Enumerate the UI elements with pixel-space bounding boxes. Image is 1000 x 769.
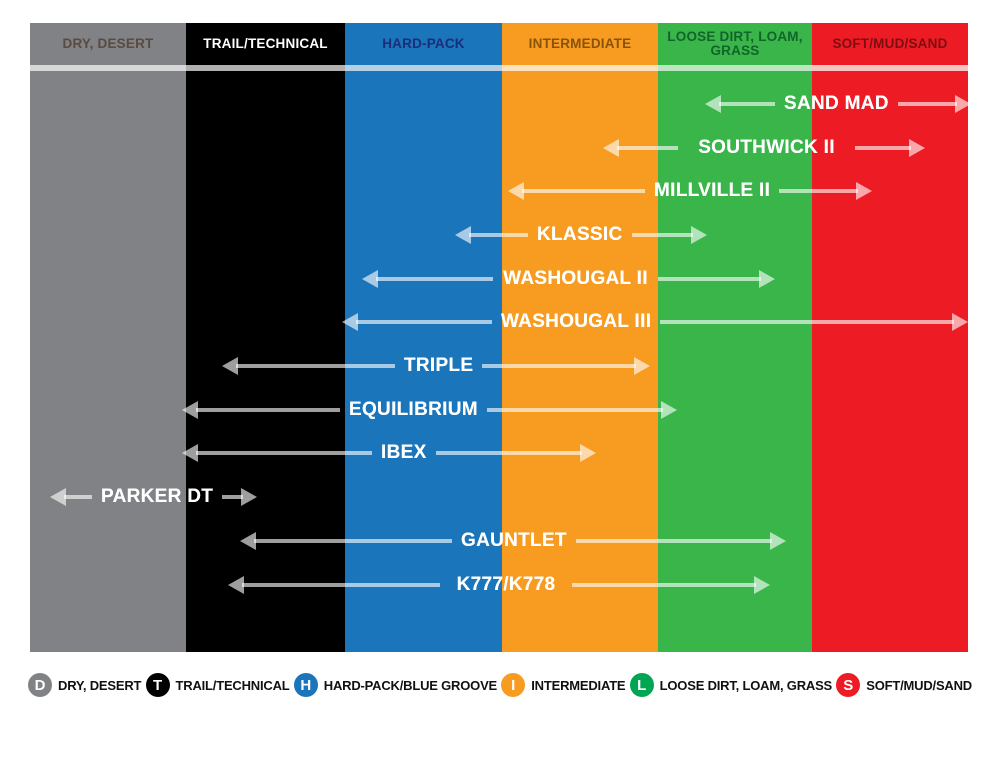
arrow-right — [658, 264, 775, 294]
arrow-left — [222, 351, 395, 381]
arrow-left-shaft — [196, 408, 340, 412]
tire-name-label: MILLVILLE II — [645, 180, 779, 202]
header-cell-soft-mud-sand: SOFT/MUD/SAND — [812, 23, 968, 65]
arrow-left-head-icon — [240, 532, 256, 550]
arrow-left — [228, 570, 440, 600]
arrow-right-head-icon — [241, 488, 257, 506]
legend-item-dry-desert[interactable]: DDRY, DESERT — [28, 673, 141, 697]
tire-name-label: K777/K778 — [440, 574, 572, 596]
arrow-right-shaft — [572, 583, 756, 587]
tire-row[interactable]: K777/K778 — [228, 570, 770, 600]
tire-row[interactable]: IBEX — [182, 438, 590, 468]
tire-row[interactable]: MILLVILLE II — [508, 176, 868, 206]
arrow-right — [632, 220, 707, 250]
arrow-left — [50, 482, 92, 512]
arrow-left-shaft — [376, 277, 493, 281]
arrow-left-head-icon — [182, 401, 198, 419]
arrow-left — [362, 264, 493, 294]
legend-badge-loose-dirt-icon: L — [630, 673, 654, 697]
header-cell-loose-dirt: LOOSE DIRT, LOAM, GRASS — [658, 23, 812, 65]
legend-item-trail-technical[interactable]: TTRAIL/TECHNICAL — [146, 673, 290, 697]
arrow-right-head-icon — [952, 313, 968, 331]
arrow-left-head-icon — [342, 313, 358, 331]
terrain-header-band: DRY, DESERTTRAIL/TECHNICALHARD-PACKINTER… — [30, 23, 968, 65]
legend-badge-trail-technical-icon: T — [146, 673, 170, 697]
tire-name-label: IBEX — [372, 442, 436, 464]
tire-name-label: GAUNTLET — [452, 530, 576, 552]
arrow-right — [855, 133, 925, 163]
arrow-right-shaft — [222, 495, 243, 499]
header-cell-dry-desert: DRY, DESERT — [30, 23, 186, 65]
arrow-left-shaft — [522, 189, 645, 193]
header-label-hard-pack: HARD-PACK — [378, 37, 469, 51]
tire-row[interactable]: PARKER DT — [50, 482, 250, 512]
legend-item-intermediate[interactable]: IINTERMEDIATE — [501, 673, 625, 697]
legend-label-intermediate: INTERMEDIATE — [531, 678, 625, 693]
header-cell-hard-pack: HARD-PACK — [345, 23, 502, 65]
arrow-right-shaft — [898, 102, 957, 106]
arrow-right — [660, 307, 968, 337]
arrow-left-head-icon — [603, 139, 619, 157]
arrow-left-head-icon — [455, 226, 471, 244]
tire-name-label: KLASSIC — [528, 224, 632, 246]
arrow-right-head-icon — [955, 95, 971, 113]
tire-row[interactable]: SAND MAD — [705, 89, 968, 119]
tire-name-label: EQUILIBRIUM — [340, 399, 487, 421]
arrow-right-head-icon — [754, 576, 770, 594]
tire-row[interactable]: EQUILIBRIUM — [182, 395, 672, 425]
tire-name-label: TRIPLE — [395, 355, 482, 377]
tire-row[interactable]: WASHOUGAL III — [342, 307, 968, 337]
arrow-left-shaft — [236, 364, 395, 368]
arrow-right-head-icon — [691, 226, 707, 244]
arrow-right-head-icon — [661, 401, 677, 419]
arrow-right-head-icon — [580, 444, 596, 462]
legend-label-hard-pack: HARD-PACK/BLUE GROOVE — [324, 678, 497, 693]
arrow-left — [455, 220, 528, 250]
arrow-left — [240, 526, 452, 556]
arrow-left — [342, 307, 492, 337]
tire-name-label: WASHOUGAL III — [492, 311, 660, 333]
arrow-left-head-icon — [182, 444, 198, 462]
arrow-right — [898, 89, 971, 119]
header-label-soft-mud-sand: SOFT/MUD/SAND — [828, 37, 951, 51]
tire-row[interactable]: SOUTHWICK II — [603, 133, 925, 163]
arrow-left-shaft — [196, 451, 372, 455]
arrow-right-shaft — [482, 364, 636, 368]
tire-name-label: SAND MAD — [775, 93, 898, 115]
arrow-right-shaft — [632, 233, 693, 237]
arrow-left — [603, 133, 678, 163]
arrow-right — [572, 570, 770, 600]
arrow-right-shaft — [855, 146, 911, 150]
arrow-left-head-icon — [222, 357, 238, 375]
arrow-right-shaft — [436, 451, 582, 455]
arrow-right-shaft — [779, 189, 858, 193]
legend-badge-hard-pack-icon: H — [294, 673, 318, 697]
arrow-left-shaft — [242, 583, 440, 587]
legend-item-soft-mud-sand[interactable]: SSOFT/MUD/SAND — [836, 673, 972, 697]
legend-label-loose-dirt: LOOSE DIRT, LOAM, GRASS — [660, 678, 832, 693]
arrow-right — [576, 526, 786, 556]
arrow-right-head-icon — [634, 357, 650, 375]
tire-rows-layer: SAND MADSOUTHWICK IIMILLVILLE IIKLASSICW… — [0, 71, 1000, 652]
arrow-left-shaft — [719, 102, 775, 106]
header-cell-intermediate: INTERMEDIATE — [502, 23, 658, 65]
tire-name-label: PARKER DT — [92, 486, 222, 508]
legend-label-soft-mud-sand: SOFT/MUD/SAND — [866, 678, 972, 693]
tire-row[interactable]: KLASSIC — [455, 220, 700, 250]
arrow-right-head-icon — [909, 139, 925, 157]
tire-row[interactable]: GAUNTLET — [240, 526, 770, 556]
tire-row[interactable]: WASHOUGAL II — [362, 264, 775, 294]
arrow-left — [705, 89, 775, 119]
arrow-right — [487, 395, 677, 425]
legend-item-hard-pack[interactable]: HHARD-PACK/BLUE GROOVE — [294, 673, 497, 697]
arrow-left-shaft — [254, 539, 452, 543]
tire-name-label: SOUTHWICK II — [678, 137, 855, 159]
arrow-left — [182, 395, 340, 425]
arrow-left-shaft — [356, 320, 492, 324]
arrow-right-shaft — [660, 320, 954, 324]
header-label-trail-technical: TRAIL/TECHNICAL — [199, 37, 332, 51]
terrain-legend: DDRY, DESERTTTRAIL/TECHNICALHHARD-PACK/B… — [28, 668, 972, 702]
arrow-left-head-icon — [50, 488, 66, 506]
arrow-left-head-icon — [508, 182, 524, 200]
arrow-left — [508, 176, 645, 206]
header-cell-trail-technical: TRAIL/TECHNICAL — [186, 23, 345, 65]
terrain-chart-root: DRY, DESERTTRAIL/TECHNICALHARD-PACKINTER… — [0, 0, 1000, 769]
legend-badge-intermediate-icon: I — [501, 673, 525, 697]
header-label-intermediate: INTERMEDIATE — [525, 37, 636, 51]
arrow-right-head-icon — [759, 270, 775, 288]
legend-badge-dry-desert-icon: D — [28, 673, 52, 697]
arrow-right-shaft — [658, 277, 761, 281]
header-label-loose-dirt: LOOSE DIRT, LOAM, GRASS — [658, 30, 812, 58]
legend-label-trail-technical: TRAIL/TECHNICAL — [176, 678, 290, 693]
legend-label-dry-desert: DRY, DESERT — [58, 678, 141, 693]
arrow-left-head-icon — [228, 576, 244, 594]
legend-badge-soft-mud-sand-icon: S — [836, 673, 860, 697]
arrow-left-head-icon — [362, 270, 378, 288]
arrow-right — [222, 482, 257, 512]
arrow-right — [779, 176, 872, 206]
arrow-right — [482, 351, 650, 381]
arrow-left — [182, 438, 372, 468]
legend-item-loose-dirt[interactable]: LLOOSE DIRT, LOAM, GRASS — [630, 673, 832, 697]
arrow-right-shaft — [576, 539, 772, 543]
arrow-left-shaft — [469, 233, 528, 237]
arrow-right — [436, 438, 596, 468]
arrow-right-head-icon — [856, 182, 872, 200]
arrow-left-shaft — [617, 146, 678, 150]
tire-row[interactable]: TRIPLE — [222, 351, 648, 381]
arrow-left-shaft — [64, 495, 92, 499]
tire-name-label: WASHOUGAL II — [493, 268, 658, 290]
header-label-dry-desert: DRY, DESERT — [59, 37, 158, 51]
arrow-left-head-icon — [705, 95, 721, 113]
arrow-right-shaft — [487, 408, 663, 412]
arrow-right-head-icon — [770, 532, 786, 550]
